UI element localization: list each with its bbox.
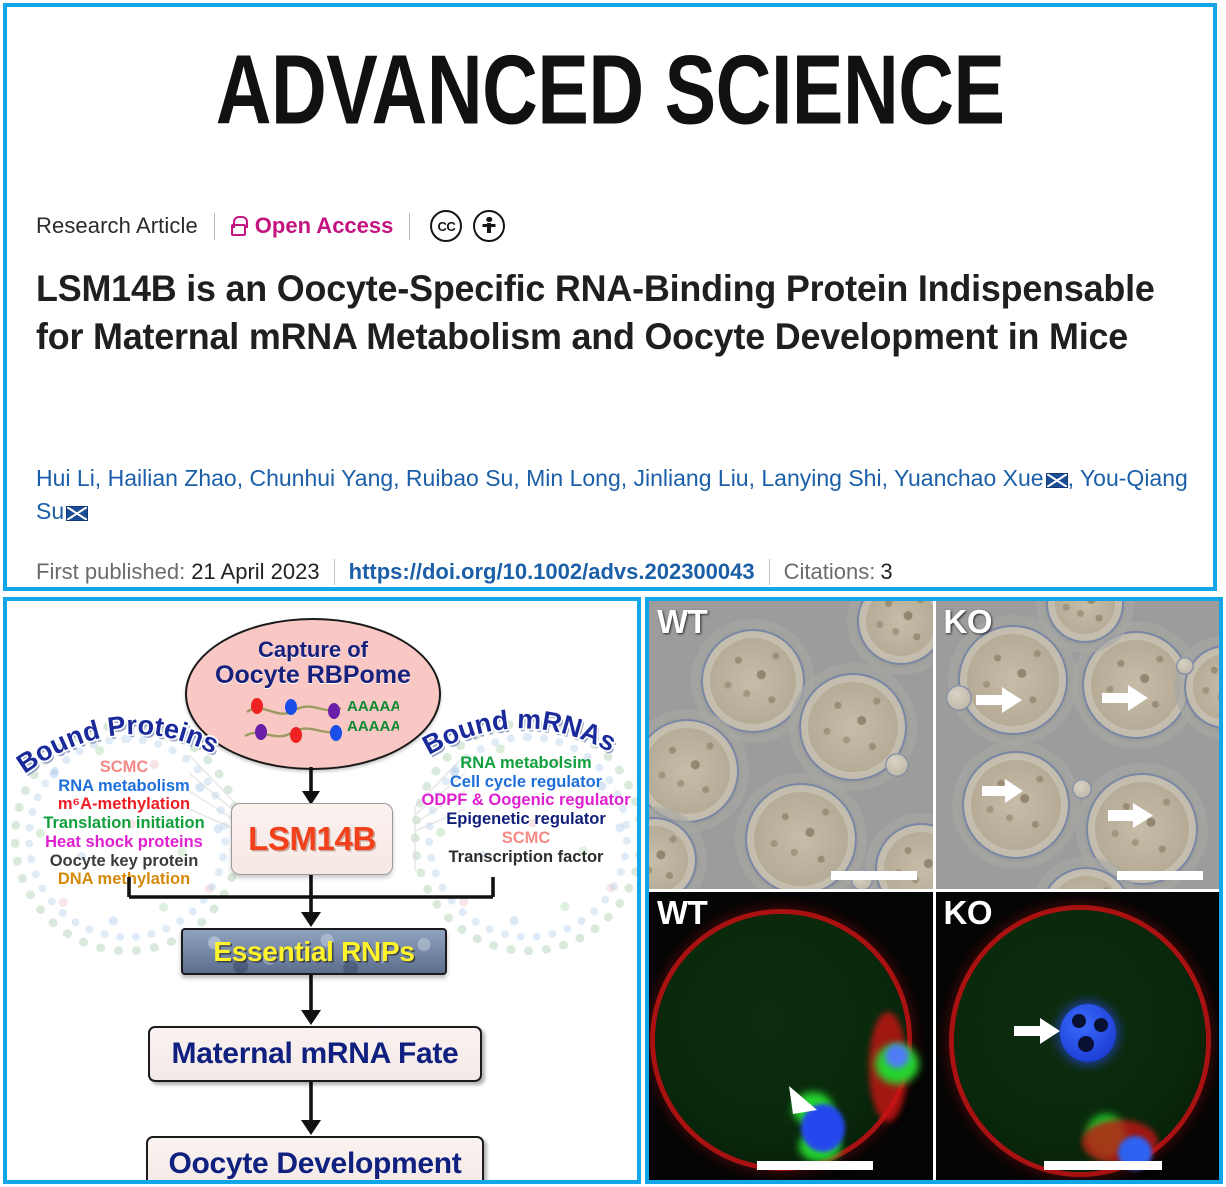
pubinfo-divider-1 [334, 559, 335, 585]
svg-text:AAAAA: AAAAA [347, 698, 399, 715]
micrograph-panel-dic-wt: WT [649, 601, 933, 889]
journal-logo: ADVANCED SCIENCE [7, 41, 1213, 124]
corresponding-author-envelope-icon[interactable] [1046, 473, 1068, 488]
oocyte [649, 817, 697, 889]
list-item: m⁶A-methylation [9, 795, 239, 814]
article-type-label: Research Article [36, 213, 198, 239]
panel-label-ko: KO [944, 603, 993, 641]
list-item: Transcription factor [407, 848, 641, 867]
oocyte [958, 625, 1068, 735]
oocyte-development-label: Oocyte Development [168, 1147, 461, 1181]
authors-line-1[interactable]: Hui Li, Hailian Zhao, Chunhui Yang, Ruib… [36, 465, 1044, 491]
micrograph-panel-fluo-ko: KO [936, 892, 1220, 1180]
doi-link[interactable]: https://doi.org/10.1002/advs.202300043 [349, 559, 755, 585]
oocyte-development-node: Oocyte Development [146, 1136, 484, 1184]
bound-mrnas-list: RNA metabolsim Cell cycle regulator ODPF… [407, 754, 641, 866]
graphical-abstract-diagram-panel: Capture of Oocyte RBPome AAAAA AAAAA [3, 597, 641, 1184]
polar-body [946, 685, 972, 711]
list-item: Cell cycle regulator [407, 773, 641, 792]
oval-line-2: Oocyte RBPome [187, 661, 439, 690]
white-arrowhead-icon [787, 1084, 821, 1118]
list-item: ODPF & Oogenic regulator [407, 791, 641, 810]
nucleolus [1072, 1014, 1086, 1028]
oocyte [857, 601, 933, 665]
oval-line-1: Capture of [187, 637, 439, 663]
cc-by-person-icon[interactable] [473, 210, 505, 242]
svg-text:AAAAA: AAAAA [347, 718, 399, 735]
meta-divider-1 [214, 213, 215, 240]
article-header-card: ADVANCED SCIENCE Research Article Open A… [3, 3, 1217, 591]
list-item: Oocyte key protein [9, 852, 239, 871]
polar-body [885, 753, 909, 777]
white-arrow-icon [1014, 1018, 1062, 1044]
citations-count: 3 [880, 559, 892, 585]
maternal-mrna-fate-node: Maternal mRNA Fate [148, 1026, 482, 1082]
article-preview-page: ADVANCED SCIENCE Research Article Open A… [0, 0, 1226, 1187]
blue-dna-signal [885, 1044, 909, 1068]
scale-bar [757, 1161, 873, 1170]
white-arrow-icon [1108, 803, 1154, 828]
panel-label-ko: KO [944, 894, 993, 932]
citations-label: Citations: [784, 559, 876, 585]
open-access-badge[interactable]: Open Access [231, 213, 394, 239]
polar-body [1072, 779, 1092, 799]
pubinfo-divider-2 [769, 559, 770, 585]
essential-rnps-node: Essential RNPs [181, 928, 447, 975]
list-item: Epigenetic regulator [407, 810, 641, 829]
open-access-label: Open Access [255, 213, 394, 239]
essential-rnps-label: Essential RNPs [213, 936, 414, 968]
license-badges[interactable]: CC [430, 210, 505, 242]
list-item: DNA methylation [9, 870, 239, 889]
unlock-icon [231, 216, 247, 237]
list-item: Translation initiation [9, 814, 239, 833]
panel-label-wt: WT [657, 894, 707, 932]
list-item: RNA metabolism [9, 777, 239, 796]
meta-divider-2 [409, 213, 410, 240]
lsm14b-label: LSM14B [248, 820, 376, 858]
list-item: SCMC [407, 829, 641, 848]
oocyte-cell [655, 914, 907, 1166]
first-published-date: 21 April 2023 [191, 559, 319, 585]
micrograph-panel-fluo-wt: WT [649, 892, 933, 1180]
white-arrow-icon [1102, 685, 1150, 711]
white-arrow-icon [982, 779, 1024, 803]
scale-bar [1117, 871, 1203, 880]
nucleolus [1094, 1018, 1108, 1032]
oocyte [701, 629, 805, 733]
scale-bar [1044, 1161, 1162, 1170]
blue-dna-cluster [1060, 1004, 1116, 1062]
journal-logo-text: ADVANCED SCIENCE [216, 41, 1005, 139]
oocyte [1086, 773, 1198, 885]
article-meta-row: Research Article Open Access CC [36, 210, 505, 242]
list-item: Heat shock proteins [9, 833, 239, 852]
publication-info: First published: 21 April 2023 https://d… [36, 559, 893, 585]
lsm14b-node: LSM14B [231, 803, 393, 875]
bound-proteins-list: SCMC RNA metabolism m⁶A-methylation Tran… [9, 758, 239, 889]
creative-commons-icon[interactable]: CC [430, 210, 462, 242]
micrograph-figure-panel: WT KO [645, 597, 1223, 1184]
oocyte [649, 719, 739, 823]
scale-bar [831, 871, 917, 880]
polar-body [1176, 657, 1194, 675]
maternal-mrna-fate-label: Maternal mRNA Fate [172, 1037, 459, 1071]
list-item: SCMC [9, 758, 239, 777]
corresponding-author-envelope-icon[interactable] [66, 506, 88, 521]
page-title: LSM14B is an Oocyte-Specific RNA-Binding… [36, 265, 1161, 361]
panel-label-wt: WT [657, 603, 707, 641]
author-list: Hui Li, Hailian Zhao, Chunhui Yang, Ruib… [36, 462, 1208, 527]
list-item: RNA metabolsim [407, 754, 641, 773]
authors-comma: , [1068, 465, 1074, 491]
oocyte [962, 751, 1070, 859]
nucleolus [1078, 1036, 1094, 1052]
first-published-label: First published: [36, 559, 185, 585]
rna-strand-illustration: AAAAA AAAAA [239, 694, 399, 750]
micrograph-panel-dic-ko: KO [936, 601, 1220, 889]
white-arrow-icon [976, 687, 1024, 713]
